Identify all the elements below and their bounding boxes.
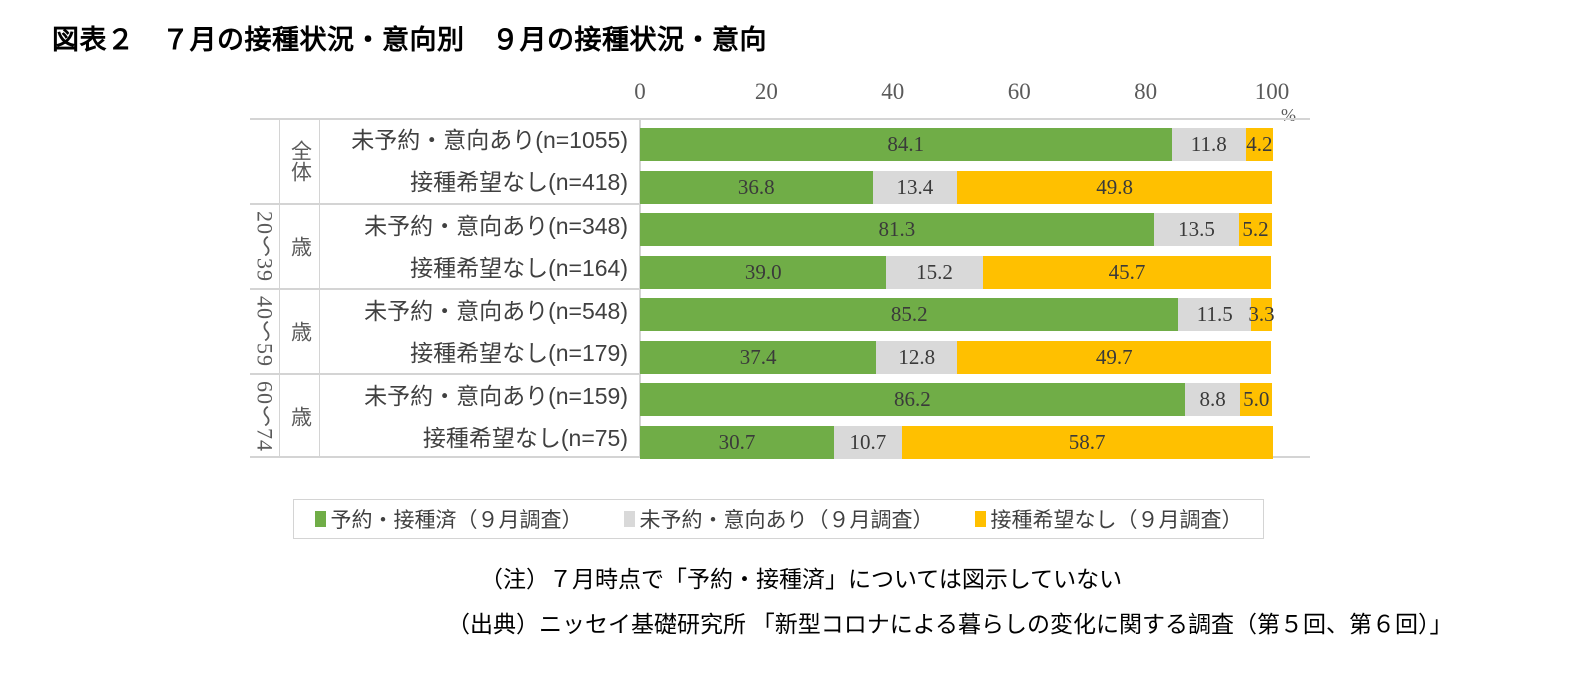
bar-value-label: 13.5 — [1178, 217, 1215, 242]
bar-segment-unreserved-intent[interactable]: 15.2 — [886, 256, 982, 289]
source-line: （出典）ニッセイ基礎研究所 「新型コロナによる暮らしの変化に関する調査（第５回、… — [447, 605, 1453, 639]
age-range-label: 60〜74 — [249, 381, 281, 452]
axis-tick-80: 80 — [1134, 79, 1157, 105]
axis-tick-0: 0 — [634, 79, 646, 105]
bar-value-label: 84.1 — [887, 132, 924, 157]
row-group: 全体未予約・意向あり(n=1055)接種希望なし(n=418) — [250, 118, 640, 203]
axis-tick-100: 100 — [1255, 79, 1290, 105]
row-group: 20〜39歳未予約・意向あり(n=348)接種希望なし(n=164) — [250, 203, 640, 288]
group-name-cell: 歳 — [280, 290, 320, 373]
bar-segment-no-intent[interactable]: 4.2 — [1246, 128, 1273, 161]
chart-legend: 予約・接種済（９月調査）未予約・意向あり（９月調査）接種希望なし（９月調査） — [293, 499, 1264, 539]
stacked-bar[interactable]: 81.313.55.2 — [640, 213, 1272, 246]
group-name-label: 歳 — [285, 406, 315, 427]
bar-value-label: 39.0 — [745, 260, 782, 285]
bar-value-label: 5.0 — [1243, 387, 1269, 412]
legend-item-no-intent[interactable]: 接種希望なし（９月調査） — [975, 504, 1243, 534]
note-line: （注）７月時点で「予約・接種済」については図示していない — [480, 560, 1122, 594]
bar-segment-reserved-or-vaccinated[interactable]: 81.3 — [640, 213, 1154, 246]
legend-swatch-icon — [975, 511, 986, 527]
bar-value-label: 10.7 — [849, 430, 886, 455]
bars-area: 84.111.84.236.813.449.881.313.55.239.015… — [640, 118, 1310, 458]
row-labels: 未予約・意向あり(n=548)接種希望なし(n=179) — [320, 290, 640, 373]
bar-segment-unreserved-intent[interactable]: 13.5 — [1154, 213, 1239, 246]
row-labels: 未予約・意向あり(n=348)接種希望なし(n=164) — [320, 205, 640, 288]
bar-segment-unreserved-intent[interactable]: 13.4 — [873, 171, 958, 204]
group-name-label: 歳 — [285, 321, 315, 342]
legend-label: 予約・接種済（９月調査） — [331, 504, 583, 534]
bar-segment-unreserved-intent[interactable]: 11.5 — [1178, 298, 1251, 331]
stacked-bar[interactable]: 36.813.449.8 — [640, 171, 1272, 204]
bar-value-label: 13.4 — [897, 175, 934, 200]
stacked-bar[interactable]: 84.111.84.2 — [640, 128, 1272, 161]
stacked-bar[interactable]: 39.015.245.7 — [640, 256, 1272, 289]
bar-segment-unreserved-intent[interactable]: 12.8 — [876, 341, 957, 374]
row-label: 接種希望なし(n=75) — [320, 417, 640, 459]
bar-value-label: 85.2 — [891, 302, 928, 327]
legend-label: 未予約・意向あり（９月調査） — [640, 504, 934, 534]
age-range-label: 20〜39 — [249, 211, 281, 282]
bar-value-label: 58.7 — [1069, 430, 1106, 455]
bar-value-label: 5.2 — [1242, 217, 1268, 242]
bar-segment-reserved-or-vaccinated[interactable]: 85.2 — [640, 298, 1178, 331]
bar-segment-reserved-or-vaccinated[interactable]: 84.1 — [640, 128, 1172, 161]
group-name-cell: 全体 — [280, 118, 320, 203]
bar-value-label: 15.2 — [916, 260, 953, 285]
group-name-cell: 歳 — [280, 375, 320, 458]
plot-body: 全体未予約・意向あり(n=1055)接種希望なし(n=418)20〜39歳未予約… — [250, 118, 1310, 458]
bar-value-label: 36.8 — [738, 175, 775, 200]
bar-segment-no-intent[interactable]: 49.7 — [957, 341, 1271, 374]
axis-tick-20: 20 — [755, 79, 778, 105]
bar-value-label: 3.3 — [1248, 302, 1274, 327]
stacked-bar[interactable]: 85.211.53.3 — [640, 298, 1272, 331]
page-title: 図表２ ７月の接種状況・意向別 ９月の接種状況・意向 — [52, 18, 767, 57]
bar-value-label: 37.4 — [740, 345, 777, 370]
bar-value-label: 30.7 — [719, 430, 756, 455]
row-label: 接種希望なし(n=418) — [320, 161, 640, 203]
age-range-cell: 60〜74 — [250, 375, 280, 458]
stacked-bar[interactable]: 37.412.849.7 — [640, 341, 1272, 374]
row-group: 40〜59歳未予約・意向あり(n=548)接種希望なし(n=179) — [250, 288, 640, 373]
bar-segment-unreserved-intent[interactable]: 10.7 — [834, 426, 902, 459]
legend-swatch-icon — [624, 511, 635, 527]
bar-segment-no-intent[interactable]: 5.2 — [1239, 213, 1272, 246]
bar-segment-no-intent[interactable]: 45.7 — [983, 256, 1272, 289]
axis-tick-60: 60 — [1008, 79, 1031, 105]
group-name-label: 全体 — [285, 140, 315, 182]
row-labels: 未予約・意向あり(n=1055)接種希望なし(n=418) — [320, 118, 640, 203]
bar-segment-no-intent[interactable]: 49.8 — [957, 171, 1272, 204]
bar-value-label: 8.8 — [1199, 387, 1225, 412]
bar-value-label: 11.5 — [1197, 302, 1233, 327]
bar-segment-reserved-or-vaccinated[interactable]: 37.4 — [640, 341, 876, 374]
row-label: 未予約・意向あり(n=1055) — [320, 119, 640, 161]
x-axis: 020406080100 — [250, 75, 1310, 115]
stacked-bar[interactable]: 86.28.85.0 — [640, 383, 1272, 416]
bar-segment-unreserved-intent[interactable]: 8.8 — [1185, 383, 1241, 416]
group-name-label: 歳 — [285, 236, 315, 257]
age-range-cell — [250, 118, 280, 203]
row-label: 未予約・意向あり(n=348) — [320, 205, 640, 247]
row-group: 60〜74歳未予約・意向あり(n=159)接種希望なし(n=75) — [250, 373, 640, 458]
legend-item-unreserved-intent[interactable]: 未予約・意向あり（９月調査） — [624, 504, 934, 534]
bar-segment-reserved-or-vaccinated[interactable]: 30.7 — [640, 426, 834, 459]
bar-segment-reserved-or-vaccinated[interactable]: 36.8 — [640, 171, 873, 204]
bar-segment-reserved-or-vaccinated[interactable]: 86.2 — [640, 383, 1185, 416]
chart-area: 020406080100 % 全体未予約・意向あり(n=1055)接種希望なし(… — [250, 75, 1310, 500]
row-label: 未予約・意向あり(n=159) — [320, 375, 640, 417]
legend-item-reserved-or-vaccinated[interactable]: 予約・接種済（９月調査） — [315, 504, 583, 534]
bar-value-label: 49.7 — [1096, 345, 1133, 370]
bar-value-label: 86.2 — [894, 387, 931, 412]
bar-value-label: 12.8 — [898, 345, 935, 370]
age-range-cell: 20〜39 — [250, 205, 280, 288]
legend-label: 接種希望なし（９月調査） — [991, 504, 1243, 534]
age-range-label: 40〜59 — [249, 296, 281, 367]
chart-page: 図表２ ７月の接種状況・意向別 ９月の接種状況・意向 020406080100 … — [0, 0, 1596, 682]
row-label-column: 全体未予約・意向あり(n=1055)接種希望なし(n=418)20〜39歳未予約… — [250, 118, 640, 458]
bar-value-label: 81.3 — [879, 217, 916, 242]
group-name-cell: 歳 — [280, 205, 320, 288]
bar-value-label: 4.2 — [1246, 132, 1272, 157]
age-range-cell: 40〜59 — [250, 290, 280, 373]
bar-segment-unreserved-intent[interactable]: 11.8 — [1172, 128, 1247, 161]
bar-segment-no-intent[interactable]: 3.3 — [1251, 298, 1272, 331]
bar-segment-no-intent[interactable]: 58.7 — [902, 426, 1273, 459]
row-label: 未予約・意向あり(n=548) — [320, 290, 640, 332]
axis-tick-40: 40 — [881, 79, 904, 105]
stacked-bar[interactable]: 30.710.758.7 — [640, 426, 1272, 459]
legend-swatch-icon — [315, 511, 326, 527]
row-label: 接種希望なし(n=164) — [320, 247, 640, 289]
bar-segment-reserved-or-vaccinated[interactable]: 39.0 — [640, 256, 886, 289]
row-labels: 未予約・意向あり(n=159)接種希望なし(n=75) — [320, 375, 640, 458]
bar-segment-no-intent[interactable]: 5.0 — [1240, 383, 1272, 416]
bar-value-label: 45.7 — [1109, 260, 1146, 285]
row-label: 接種希望なし(n=179) — [320, 332, 640, 374]
bar-value-label: 11.8 — [1191, 132, 1227, 157]
bar-value-label: 49.8 — [1096, 175, 1133, 200]
